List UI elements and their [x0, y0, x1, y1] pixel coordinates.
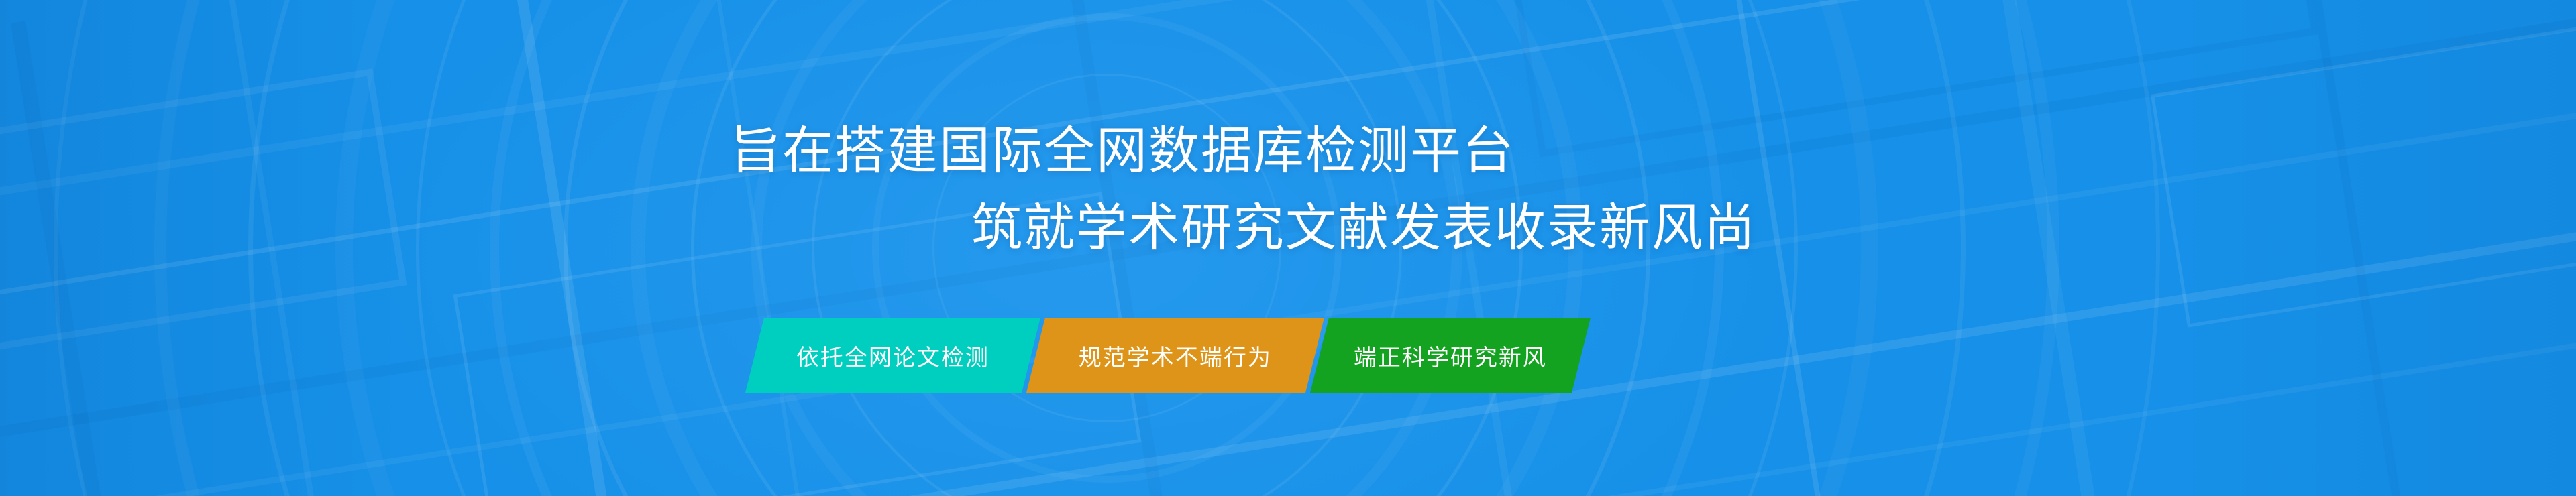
feature-badge-misconduct[interactable]: 规范学术不端行为 — [1026, 318, 1324, 393]
feature-badge-detection-label: 依托全网论文检测 — [796, 339, 989, 372]
headline-block: 旨在搭建国际全网数据库检测平台 筑就学术研究文献发表收录新风尚 — [0, 113, 2576, 267]
feature-badge-misconduct-label: 规范学术不端行为 — [1079, 339, 1272, 372]
feature-badge-group: 依托全网论文检测 规范学术不端行为 端正科学研究新风 — [755, 318, 1581, 393]
feature-badge-integrity[interactable]: 端正科学研究新风 — [1310, 318, 1591, 393]
promo-banner: 旨在搭建国际全网数据库检测平台 筑就学术研究文献发表收录新风尚 依托全网论文检测… — [0, 0, 2576, 496]
feature-badge-detection[interactable]: 依托全网论文检测 — [745, 318, 1040, 393]
feature-badge-integrity-label: 端正科学研究新风 — [1354, 339, 1547, 372]
headline-line-2: 筑就学术研究文献发表收录新风尚 — [0, 190, 2576, 267]
headline-line-1: 旨在搭建国际全网数据库检测平台 — [0, 113, 2576, 190]
